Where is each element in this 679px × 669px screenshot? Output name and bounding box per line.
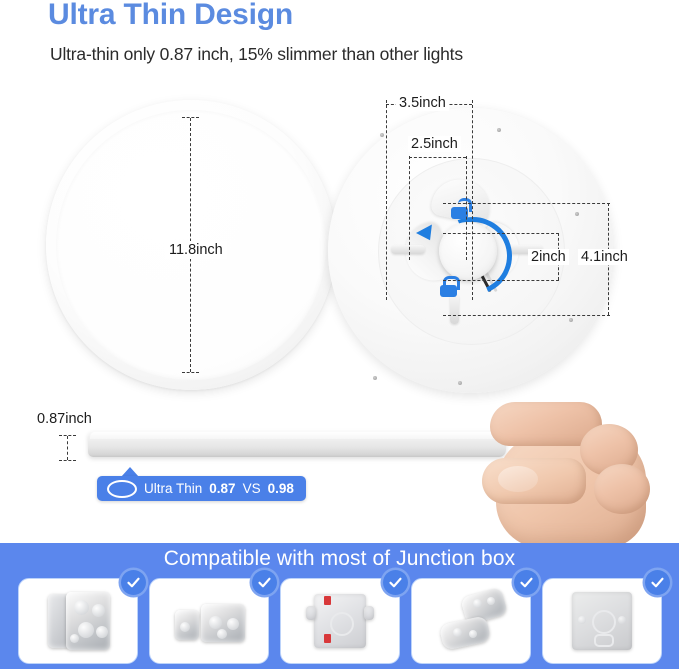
badge-compare: 0.98 (268, 481, 294, 496)
badge-separator: VS (243, 481, 261, 496)
ellipse-icon (107, 480, 137, 498)
thickness-dimension-line (67, 436, 68, 460)
mounting-bracket (393, 176, 543, 326)
junction-box-image (304, 590, 376, 652)
dim-2p5-label: 2.5inch (408, 136, 461, 152)
bracket-tab (450, 294, 459, 324)
diameter-dimension-label: 11.8inch (165, 241, 227, 259)
screw-hole-icon (380, 133, 384, 137)
junction-box-square-metal[interactable] (18, 578, 138, 664)
bracket-center-hub (439, 222, 497, 280)
thickness-dimension-cap-top (59, 435, 76, 436)
junction-box-image (42, 590, 114, 652)
diameter-dimension-cap-bottom (182, 372, 199, 373)
page-title: Ultra Thin Design (48, 0, 608, 32)
side-profile-highlight (90, 432, 502, 439)
dim-2-label: 2inch (528, 249, 569, 265)
dim-2p5-line (409, 157, 466, 158)
junction-box-image (435, 590, 507, 652)
dim-2-top-extension (443, 233, 559, 234)
dim-2p5-left-extension (409, 156, 410, 260)
screw-hole-icon (569, 318, 573, 322)
knuckle (594, 464, 650, 514)
dim-3p5-right-extension (472, 100, 473, 300)
dim-4p1-bottom-extension (443, 315, 610, 316)
screw-hole-icon (497, 128, 501, 132)
junction-box-oval-metal-pair[interactable] (411, 578, 531, 664)
thickness-dimension-cap-bottom (59, 460, 76, 461)
ultra-thin-comparison-badge: Ultra Thin 0.87 VS 0.98 (97, 476, 306, 501)
junction-box-square-plastic[interactable] (542, 578, 662, 664)
check-icon (514, 570, 539, 595)
bracket-tab (391, 245, 425, 254)
screw-hole-icon (458, 381, 462, 385)
diameter-dimension-cap-top (182, 117, 199, 118)
dim-3p5-left-extension (386, 100, 387, 300)
thumb-nail (498, 466, 538, 492)
dim-2-bottom-extension (443, 280, 559, 281)
badge-value: 0.87 (209, 481, 235, 496)
junction-box-image (566, 590, 638, 652)
check-icon (252, 570, 277, 595)
screw-hole-icon (373, 376, 377, 380)
junction-box-image (173, 590, 245, 652)
dim-2p5-right-extension (466, 156, 467, 260)
thickness-dimension-label: 0.87inch (37, 411, 92, 427)
dim-4p1-label: 4.1inch (578, 249, 631, 265)
check-icon (645, 570, 670, 595)
junction-box-card-list (0, 578, 679, 666)
junction-box-plastic-red-clips[interactable] (280, 578, 400, 664)
page-subtitle: Ultra-thin only 0.87 inch, 15% slimmer t… (50, 44, 650, 65)
check-icon (383, 570, 408, 595)
compatibility-banner-title: Compatible with most of Junction box (0, 547, 679, 571)
badge-prefix: Ultra Thin (144, 481, 202, 496)
screw-hole-icon (575, 212, 579, 216)
junction-box-pair-metal[interactable] (149, 578, 269, 664)
dim-3p5-label: 3.5inch (396, 95, 449, 111)
check-icon (121, 570, 146, 595)
hand-holding-light (468, 396, 679, 548)
dim-4p1-top-extension (443, 203, 610, 204)
